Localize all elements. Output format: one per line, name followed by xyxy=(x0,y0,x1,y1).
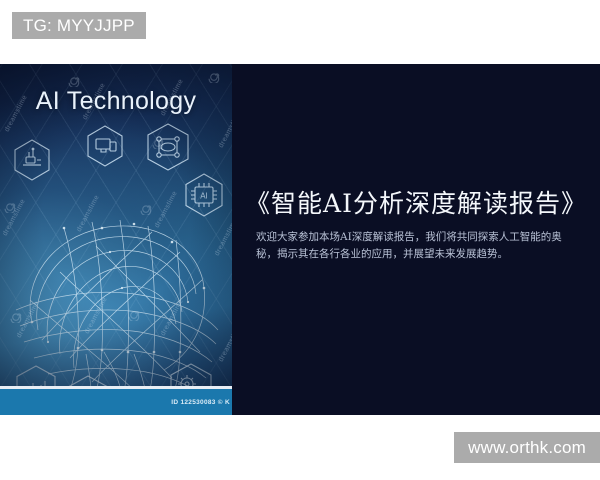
spiral-icon xyxy=(128,306,143,321)
slide-content-panel: 《智能AI分析深度解读报告》 欢迎大家参加本场AI深度解读报告，我们将共同探索人… xyxy=(232,64,600,415)
spiral-icon xyxy=(10,308,25,323)
stock-watermark-text: dreamstime xyxy=(218,324,232,363)
stock-watermark-text: dreamstime xyxy=(76,194,101,233)
stock-watermark-text: dreamstime xyxy=(214,218,232,257)
site-url-watermark: www.orthk.com xyxy=(454,432,600,463)
spiral-icon xyxy=(152,134,167,149)
spiral-icon xyxy=(140,200,155,215)
slide-title: 《智能AI分析深度解读报告》 xyxy=(232,184,600,220)
slide-body-text: 欢迎大家参加本场AI深度解读报告，我们将共同探索人工智能的奥秘，揭示其在各行各业… xyxy=(256,229,582,262)
spiral-icon xyxy=(4,198,19,213)
stock-photo-footer: ID 122530083 © K xyxy=(0,389,232,415)
telegram-watermark: TG: MYYJJPP xyxy=(12,12,146,39)
photo-heading: AI Technology xyxy=(0,87,232,116)
ai-technology-stock-image: AI xyxy=(0,64,232,415)
stock-id-label: ID 122530083 © K xyxy=(171,399,232,406)
stock-watermark-text: dreamstime xyxy=(154,190,179,229)
presentation-slide: AI xyxy=(0,64,600,415)
spiral-icon xyxy=(208,68,223,83)
spiral-icon xyxy=(68,72,83,87)
stock-watermark-text: dreamstime xyxy=(84,296,109,335)
stock-watermark-text: dreamstime xyxy=(160,298,185,337)
footer-divider xyxy=(0,386,232,389)
stock-watermark-overlay: dreamstime dreamstime dreamstime dreamst… xyxy=(0,64,232,415)
